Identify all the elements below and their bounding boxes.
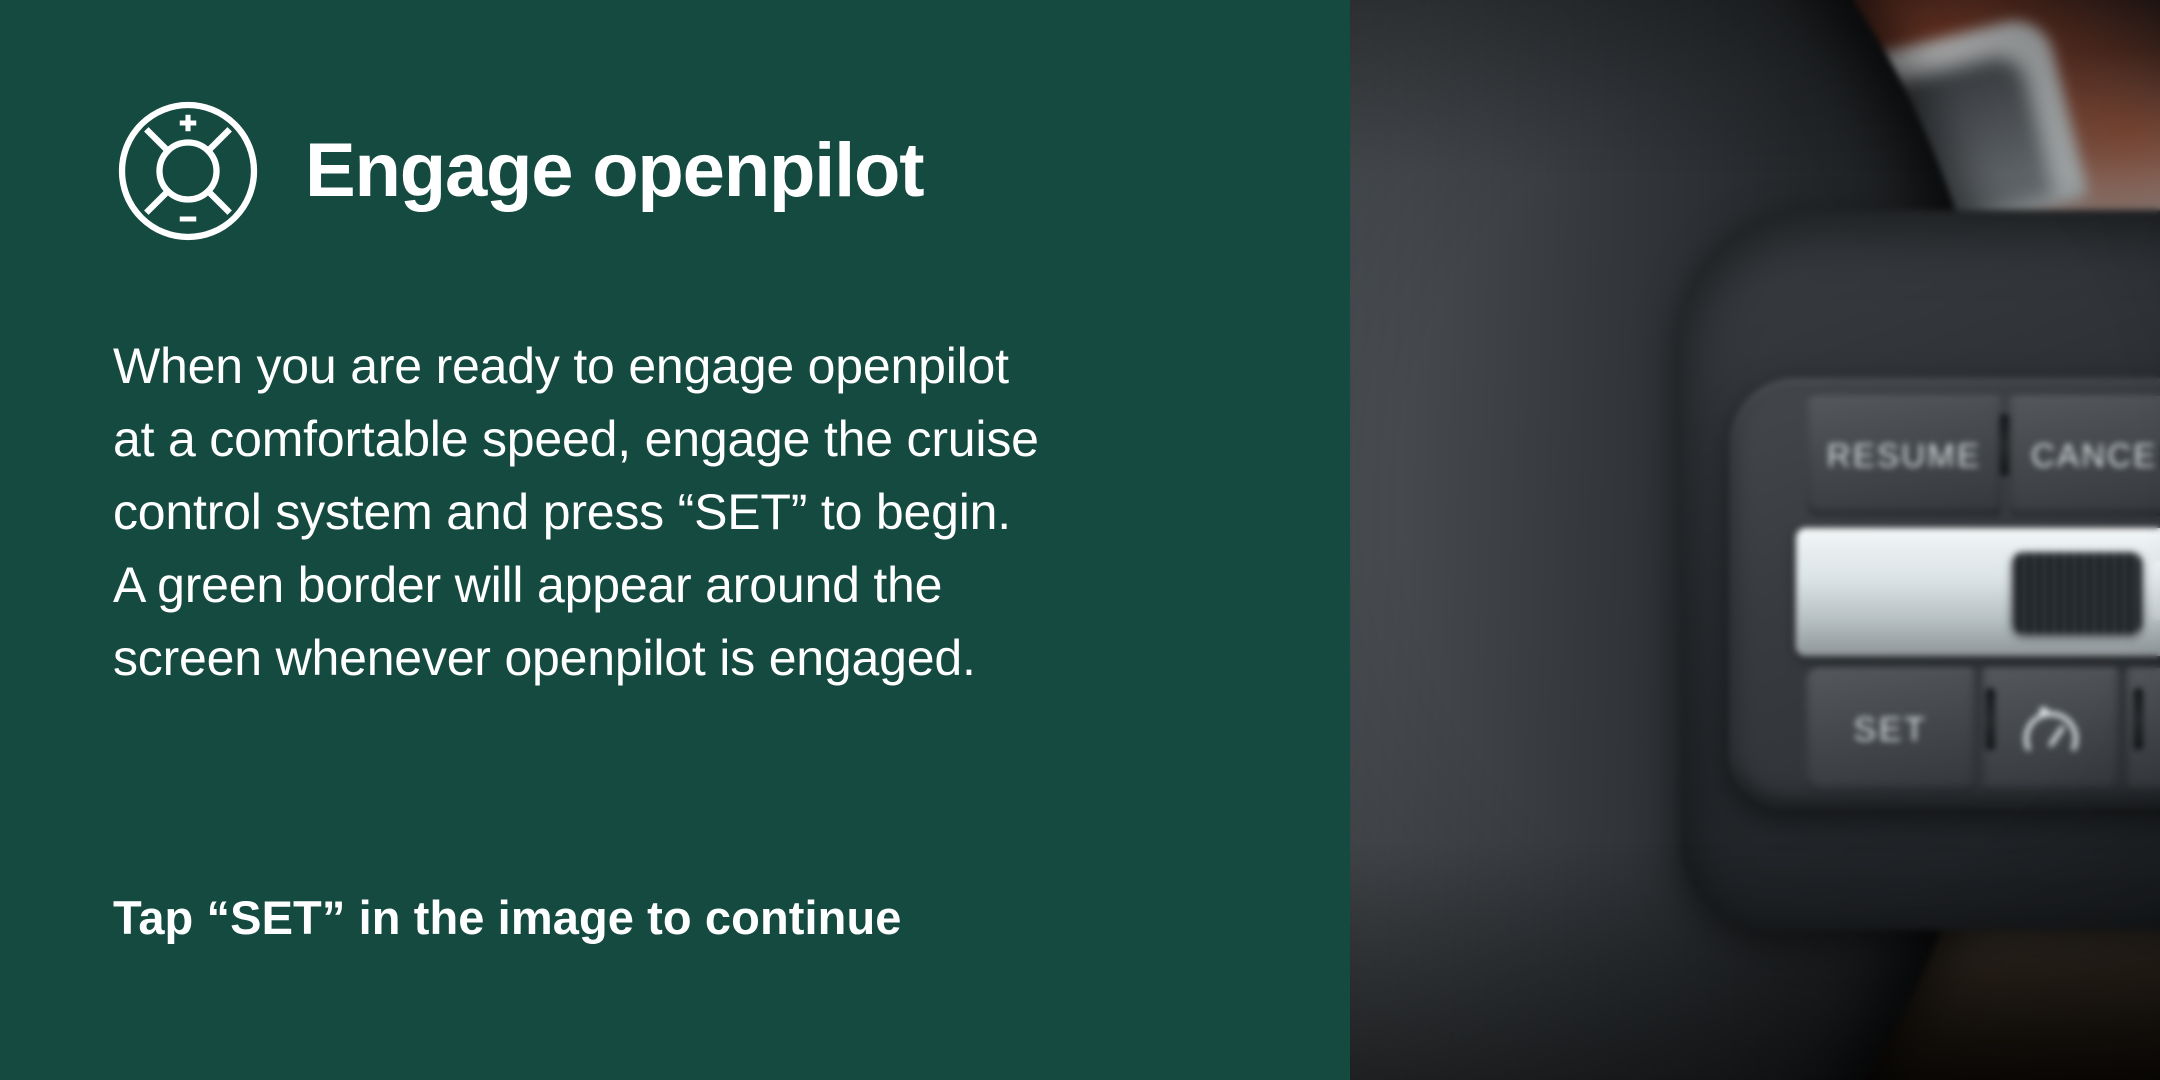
panel-header: Engage openpilot [113,96,1250,246]
following-distance-icon [2018,699,2084,761]
button-row-top: RESUME CANCEL [1806,396,2160,516]
instruction-line: control system and press “SET” to begin. [113,476,1250,549]
instruction-line: screen whenever openpilot is engaged. [113,622,1250,695]
instruction-panel: Engage openpilot When you are ready to e… [0,0,1350,1080]
rocker-switch-strip[interactable] [1796,528,2160,656]
call-to-action-text: Tap “SET” in the image to continue [113,892,1250,944]
button-row-bottom: SET [1806,668,2160,792]
cruise-control-button-pad: RESUME CANCEL SET [1730,378,2160,808]
instruction-line: at a comfortable speed, engage the cruis… [113,403,1250,476]
button-divider-slot [1986,688,1995,750]
following-distance-button[interactable] [1982,668,2119,792]
button-divider-slot [2000,414,2009,476]
steering-wheel-photo[interactable]: RESUME CANCEL SET [1350,0,2160,1080]
cruise-control-icon [113,96,263,246]
set-button-label: SET [1853,711,1927,750]
set-button[interactable]: SET [1806,668,1975,792]
cancel-button-label: CANCEL [2031,437,2160,475]
auxiliary-button[interactable] [2126,668,2160,792]
resume-button[interactable]: RESUME [1806,396,2002,516]
cancel-button[interactable]: CANCEL [2009,396,2160,516]
resume-button-label: RESUME [1827,437,1981,475]
rocker-tab[interactable] [2152,562,2160,620]
instruction-text: When you are ready to engage openpilot a… [113,330,1250,695]
instruction-line: A green border will appear around the [113,549,1250,622]
panel-spacer [113,695,1250,892]
onboarding-screen: Engage openpilot When you are ready to e… [0,0,2160,1080]
button-divider-slot [2134,688,2143,750]
rocker-knob[interactable] [2012,552,2142,634]
instruction-line: When you are ready to engage openpilot [113,330,1250,403]
page-title: Engage openpilot [305,133,923,209]
